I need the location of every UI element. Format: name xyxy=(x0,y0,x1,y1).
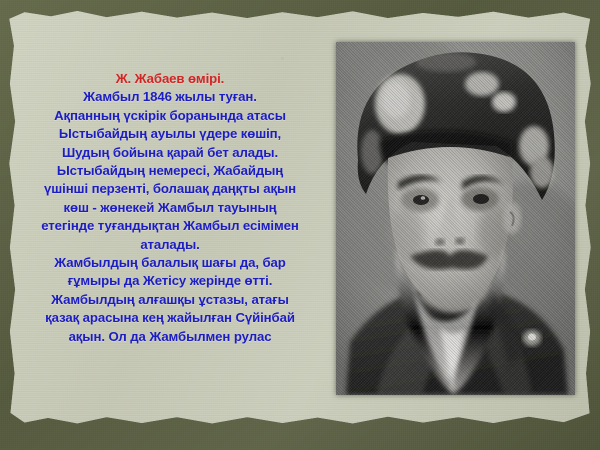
text-line-14: ақын. Ол да Жамбылмен рулас xyxy=(10,328,330,346)
text-line-11: ғұмыры да Жетісу жерінде өтті. xyxy=(10,272,330,290)
text-line-4: Шудың бойына қарай бет алады. xyxy=(10,144,330,162)
slide-title: Ж. Жабаев өмірі. xyxy=(10,70,330,88)
text-block: Ж. Жабаев өмірі. Жамбыл 1846 жылы туған.… xyxy=(10,70,330,346)
text-line-1: Жамбыл 1846 жылы туған. xyxy=(10,88,330,106)
text-line-2: Ақпанның үскірік боранында атасы xyxy=(10,107,330,125)
text-line-6: үшінші перзенті, болашақ даңқты ақын xyxy=(10,180,330,198)
text-line-5: Ыстыбайдың немересі, Жабайдың xyxy=(10,162,330,180)
jambyl-jabayev-portrait xyxy=(336,42,575,395)
text-line-3: Ыстыбайдың ауылы үдере көшіп, xyxy=(10,125,330,143)
text-line-10: Жамбылдың балалық шағы да, бар xyxy=(10,254,330,272)
text-line-13: қазақ арасына кең жайылған Сүйінбай xyxy=(10,309,330,327)
portrait-frame xyxy=(336,42,575,395)
text-line-12: Жамбылдың алғашқы ұстазы, атағы xyxy=(10,291,330,309)
text-line-7: көш - жөнекей Жамбыл тауының xyxy=(10,199,330,217)
slide-canvas: Ж. Жабаев өмірі. Жамбыл 1846 жылы туған.… xyxy=(0,0,600,450)
text-line-9: аталады. xyxy=(10,236,330,254)
text-line-8: етегінде туғандықтан Жамбыл есімімен xyxy=(10,217,330,235)
